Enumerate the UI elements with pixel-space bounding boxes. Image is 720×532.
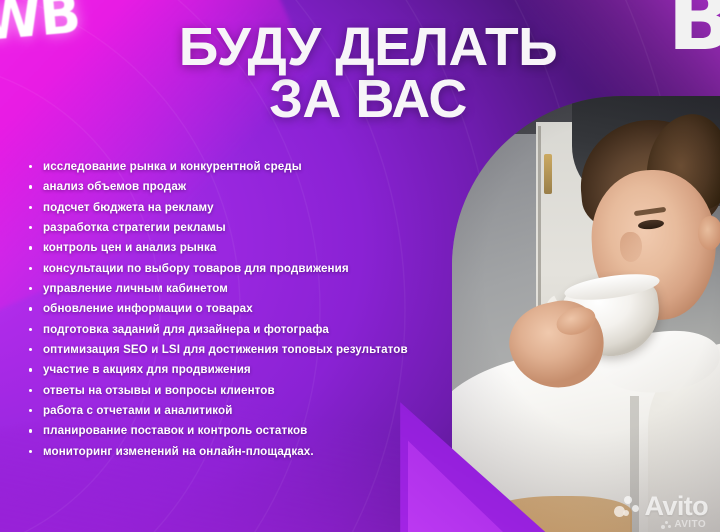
list-item: разработка стратегии рекламы bbox=[22, 221, 442, 235]
person-photo bbox=[452, 96, 720, 532]
wildberries-logo-left: WB bbox=[0, 0, 81, 53]
avito-watermark-secondary-text: AVITO bbox=[674, 519, 706, 530]
service-list: исследование рынка и конкурентной средыа… bbox=[22, 160, 442, 465]
photo-vignette bbox=[452, 96, 720, 532]
avito-watermark: Avito bbox=[614, 491, 709, 522]
avito-watermark-text: Avito bbox=[645, 491, 709, 522]
list-item: подготовка заданий для дизайнера и фотог… bbox=[22, 323, 442, 337]
list-item: работа с отчетами и аналитикой bbox=[22, 404, 442, 418]
list-item: консультации по выбору товаров для продв… bbox=[22, 262, 442, 276]
avito-watermark-secondary: AVITO bbox=[661, 519, 706, 530]
list-item: планирование поставок и контроль остатко… bbox=[22, 424, 442, 438]
list-item: мониторинг изменений на онлайн-площадках… bbox=[22, 445, 442, 459]
list-item: управление личным кабинетом bbox=[22, 282, 442, 296]
list-item: анализ объемов продаж bbox=[22, 180, 442, 194]
wildberries-logo-right: B bbox=[667, 0, 720, 70]
list-item: обновление информации о товарах bbox=[22, 302, 442, 316]
avito-logo-icon-small bbox=[661, 521, 671, 529]
promo-banner: WB B bbox=[0, 0, 720, 532]
avito-logo-icon bbox=[614, 496, 640, 518]
person-photo-panel bbox=[452, 96, 720, 532]
list-item: оптимизация SEO и LSI для достижения топ… bbox=[22, 343, 442, 357]
page-title: БУДУ ДЕЛАТЬ ЗА ВАС bbox=[118, 22, 618, 126]
list-item: контроль цен и анализ рынка bbox=[22, 241, 442, 255]
list-item: участие в акциях для продвижения bbox=[22, 363, 442, 377]
headline-line-1: БУДУ ДЕЛАТЬ bbox=[113, 22, 623, 74]
list-item: подсчет бюджета на рекламу bbox=[22, 201, 442, 215]
list-item: исследование рынка и конкурентной среды bbox=[22, 160, 442, 174]
headline-line-2: ЗА ВАС bbox=[118, 74, 618, 126]
list-item: ответы на отзывы и вопросы клиентов bbox=[22, 384, 442, 398]
